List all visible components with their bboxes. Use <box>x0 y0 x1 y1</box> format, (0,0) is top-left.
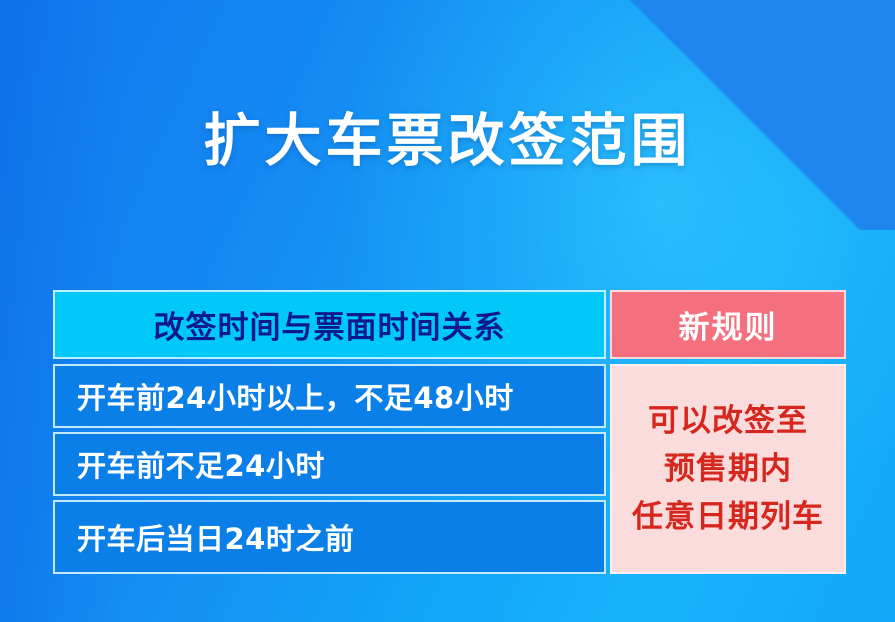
rule-column-header: 新规则 <box>610 290 846 359</box>
table-row: 开车后当日24时之前 <box>53 500 606 574</box>
table-row: 开车前24小时以上，不足48小时 <box>53 364 606 428</box>
condition-column-header: 改签时间与票面时间关系 <box>53 290 606 359</box>
rule-line: 任意日期列车 <box>632 496 824 538</box>
rule-line: 可以改签至 <box>648 400 808 442</box>
rule-merged-cell: 可以改签至 预售期内 任意日期列车 <box>610 364 846 574</box>
page-title: 扩大车票改签范围 <box>0 106 895 176</box>
table-row: 开车前不足24小时 <box>53 432 606 496</box>
rules-table: 改签时间与票面时间关系 开车前24小时以上，不足48小时 开车前不足24小时 开… <box>53 290 846 574</box>
rule-column: 新规则 可以改签至 预售期内 任意日期列车 <box>610 290 846 574</box>
condition-column: 改签时间与票面时间关系 开车前24小时以上，不足48小时 开车前不足24小时 开… <box>53 290 606 574</box>
poster-canvas: 扩大车票改签范围 改签时间与票面时间关系 开车前24小时以上，不足48小时 开车… <box>0 0 895 622</box>
condition-rows: 开车前24小时以上，不足48小时 开车前不足24小时 开车后当日24时之前 <box>53 364 606 574</box>
rule-line: 预售期内 <box>664 448 792 490</box>
